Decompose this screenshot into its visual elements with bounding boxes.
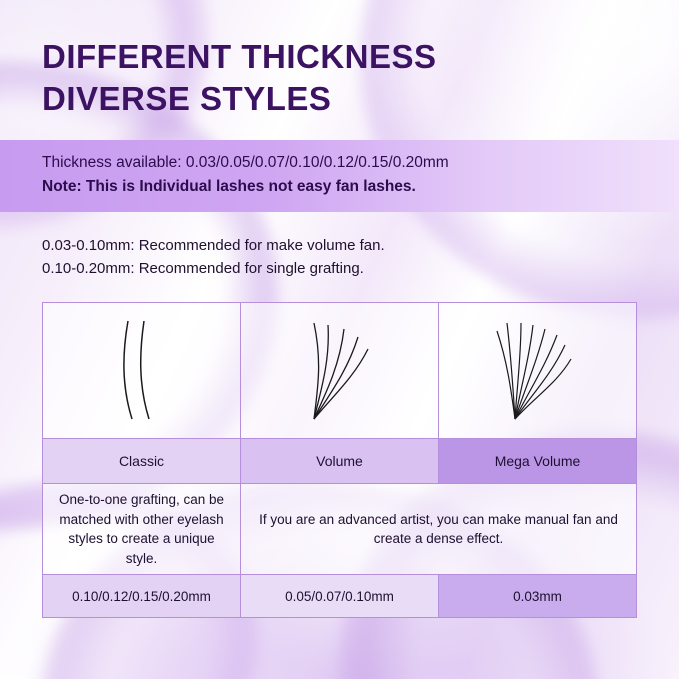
sizes-volume: 0.05/0.07/0.10mm — [241, 575, 439, 618]
table-row-sizes: 0.10/0.12/0.15/0.20mm 0.05/0.07/0.10mm 0… — [43, 575, 637, 618]
table-row-descriptions: One-to-one grafting, can be matched with… — [43, 484, 637, 575]
label-mega-volume: Mega Volume — [439, 439, 637, 484]
description-volume-mega: If you are an advanced artist, you can m… — [241, 484, 637, 575]
thickness-available-text: Thickness available: 0.03/0.05/0.07/0.10… — [42, 151, 637, 175]
thickness-banner: Thickness available: 0.03/0.05/0.07/0.10… — [0, 140, 679, 211]
page-title: DIFFERENT THICKNESS DIVERSE STYLES — [42, 0, 637, 120]
lash-style-comparison-table: Classic Volume Mega Volume One-to-one gr… — [42, 302, 637, 618]
classic-lash-cell — [43, 303, 241, 439]
classic-lash-icon — [43, 315, 240, 427]
page-title-line2: DIVERSE STYLES — [42, 78, 637, 120]
label-volume: Volume — [241, 439, 439, 484]
mega-volume-lash-cell — [439, 303, 637, 439]
sizes-mega-volume: 0.03mm — [439, 575, 637, 618]
table-row-images — [43, 303, 637, 439]
table-row-labels: Classic Volume Mega Volume — [43, 439, 637, 484]
volume-fan-icon — [241, 315, 438, 427]
sizes-classic: 0.10/0.12/0.15/0.20mm — [43, 575, 241, 618]
page-title-line1: DIFFERENT THICKNESS — [42, 38, 437, 75]
description-classic: One-to-one grafting, can be matched with… — [43, 484, 241, 575]
product-infographic: DIFFERENT THICKNESS DIVERSE STYLES Thick… — [0, 0, 679, 679]
label-classic: Classic — [43, 439, 241, 484]
mega-volume-fan-icon — [439, 315, 636, 427]
recommendation-line-2: 0.10-0.20mm: Recommended for single graf… — [42, 257, 637, 280]
lash-type-note-text: Note: This is Individual lashes not easy… — [42, 175, 637, 199]
recommendation-line-1: 0.03-0.10mm: Recommended for make volume… — [42, 234, 637, 257]
volume-lash-cell — [241, 303, 439, 439]
recommendation-notes: 0.03-0.10mm: Recommended for make volume… — [42, 234, 637, 281]
